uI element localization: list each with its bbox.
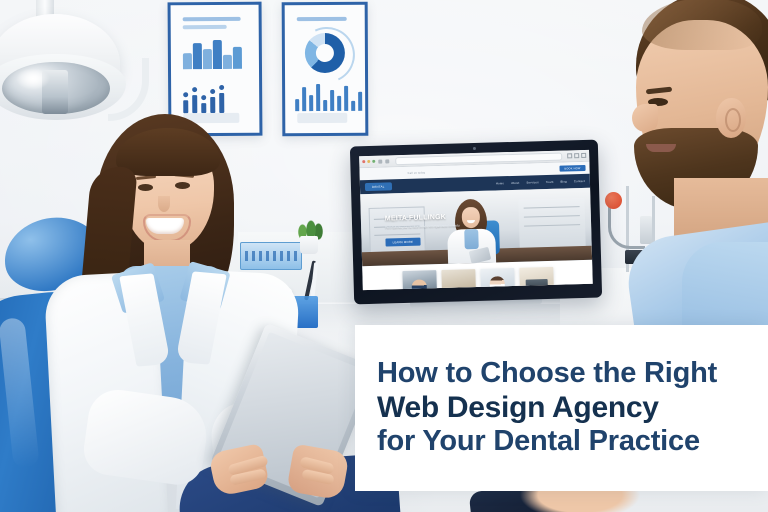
dentist-figure: [32, 108, 362, 512]
nav-item-about[interactable]: About: [511, 181, 519, 185]
tab-icon-2[interactable]: [385, 159, 389, 163]
minimize-icon[interactable]: [367, 160, 370, 163]
hero-subtext: Pero fallonia jour lla vitce forndo lero…: [385, 223, 471, 230]
site-hero: MEITA FULLINGK Pero fallonia jour lla vi…: [360, 188, 592, 266]
dentist-eye-left: [138, 184, 153, 191]
banner-image: Call us today BOOK NOW DENTAL Home About…: [0, 0, 768, 512]
dentist-nose: [158, 196, 170, 212]
webcam-icon: [472, 147, 475, 150]
site-cta-button[interactable]: BOOK NOW: [559, 165, 585, 172]
tab-icon[interactable]: [378, 159, 382, 163]
title-line-3: for Your Dental Practice: [377, 425, 768, 459]
monitor-screen: Call us today BOOK NOW DENTAL Home About…: [359, 150, 593, 290]
poster-title-bar: [183, 17, 241, 21]
dental-light-reflector: [2, 62, 110, 114]
patient-mouth: [646, 144, 676, 152]
poster-area-graphic: [183, 39, 245, 69]
nav-item-contact[interactable]: Contact: [574, 179, 585, 183]
title-line-2: Web Design Agency: [377, 391, 768, 426]
window-controls[interactable]: [567, 153, 586, 159]
thumbnail-card[interactable]: [402, 270, 437, 290]
maximize-icon[interactable]: [372, 160, 375, 163]
patient-ear: [716, 98, 746, 138]
dentist-smile-teeth: [146, 218, 184, 234]
poster-title-donut: [297, 17, 347, 21]
dentist-eye-right: [175, 182, 190, 189]
poster-bar-series: [295, 83, 362, 111]
donut-chart-graphic: [305, 33, 345, 73]
nav-item-services[interactable]: Services: [526, 180, 538, 184]
hero-copy: MEITA FULLINGK Pero fallonia jour lla vi…: [385, 213, 472, 248]
dental-light-glow: [16, 68, 50, 90]
title-line-1: How to Choose the Right: [377, 357, 768, 391]
title-card: How to Choose the Right Web Design Agenc…: [355, 325, 768, 491]
site-topbar-text: Call us today: [408, 171, 426, 174]
thumbnail-card[interactable]: [441, 269, 476, 290]
nav-item-team[interactable]: Team: [546, 180, 554, 184]
nav-item-blog[interactable]: Blog: [560, 179, 567, 183]
site-logo[interactable]: DENTAL: [365, 182, 392, 191]
nav-item-home[interactable]: Home: [496, 181, 504, 185]
desktop-monitor: Call us today BOOK NOW DENTAL Home About…: [350, 140, 602, 305]
patient-nose: [632, 104, 658, 132]
patient-hair-highlight: [642, 0, 762, 50]
hero-cabinet-right: [518, 198, 585, 250]
site-nav-items: Home About Services Team Blog Contact: [496, 179, 585, 185]
poster-subtitle-bar: [183, 25, 227, 29]
close-icon[interactable]: [362, 160, 365, 163]
hero-heading: MEITA FULLINGK: [385, 213, 471, 222]
hero-cta-button[interactable]: LEARN MORE: [385, 237, 420, 246]
patient-figure: [612, 0, 768, 332]
